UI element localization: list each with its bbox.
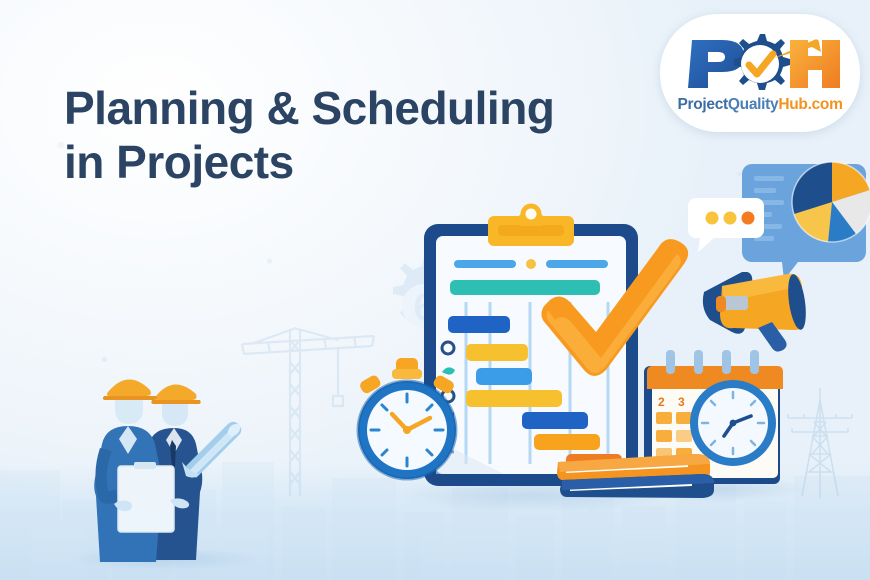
- pqh-monogram-icon: [678, 34, 842, 94]
- logo-wordmark: ProjectQualityHub.com: [677, 96, 842, 114]
- power-pylon-silhouette: [782, 388, 858, 498]
- construction-workers: [78, 362, 248, 562]
- logo-word-project: Project: [677, 96, 727, 113]
- megaphone: [700, 272, 812, 352]
- page-title: Planning & Scheduling in Projects: [64, 82, 624, 190]
- svg-text:3: 3: [678, 395, 685, 409]
- chat-bubble: [688, 196, 764, 254]
- logo-word-hub: Hub: [778, 96, 807, 113]
- stopwatch: [348, 356, 466, 484]
- chat-dot-3: [742, 212, 755, 225]
- banner-root: 6: [0, 0, 870, 580]
- svg-text:2: 2: [658, 395, 665, 409]
- chat-dot-2: [724, 212, 737, 225]
- stacked-books: [556, 440, 716, 502]
- project-quality-hub-logo[interactable]: ProjectQualityHub.com: [660, 14, 860, 132]
- logo-word-quality: Quality: [728, 96, 778, 113]
- pie-chart: [790, 160, 870, 244]
- chat-dot-1: [706, 212, 719, 225]
- logo-word-com: .com: [808, 96, 843, 113]
